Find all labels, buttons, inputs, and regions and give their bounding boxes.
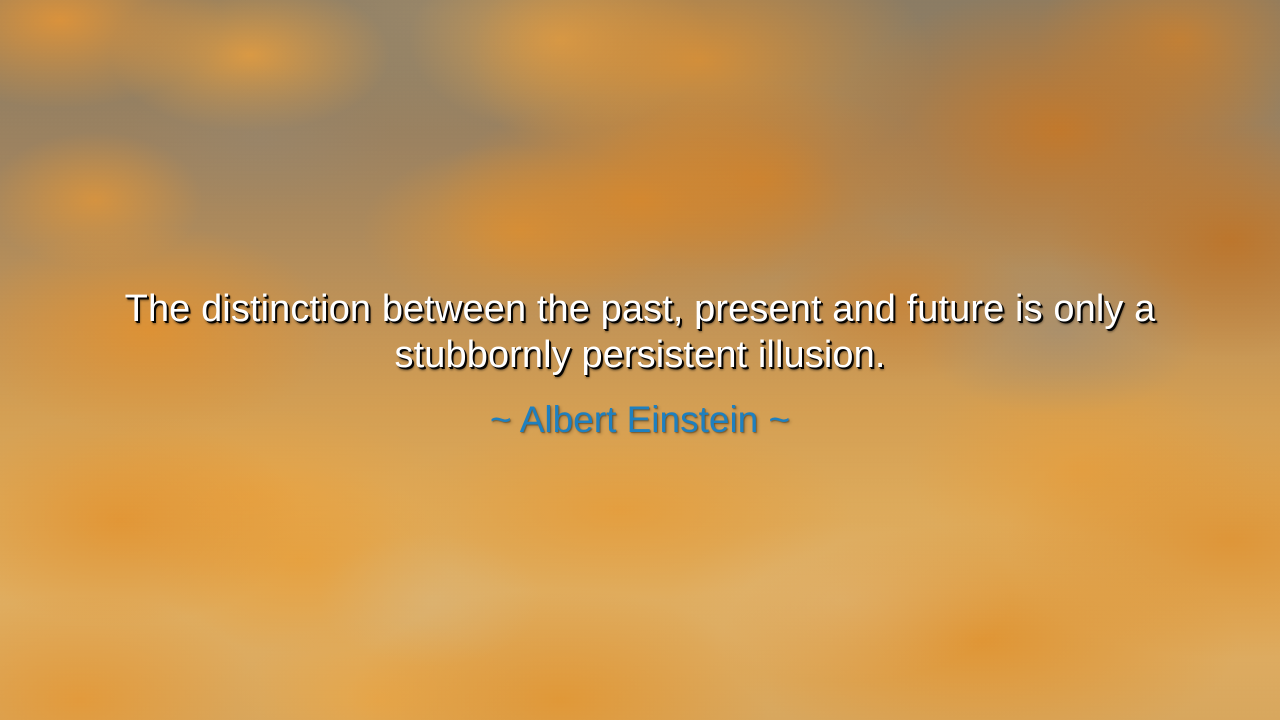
quote-attribution: ~ Albert Einstein ~: [60, 398, 1220, 442]
quote-slide: The distinction between the past, presen…: [0, 0, 1280, 720]
quote-block: The distinction between the past, presen…: [60, 286, 1220, 442]
quote-text: The distinction between the past, presen…: [60, 286, 1220, 378]
